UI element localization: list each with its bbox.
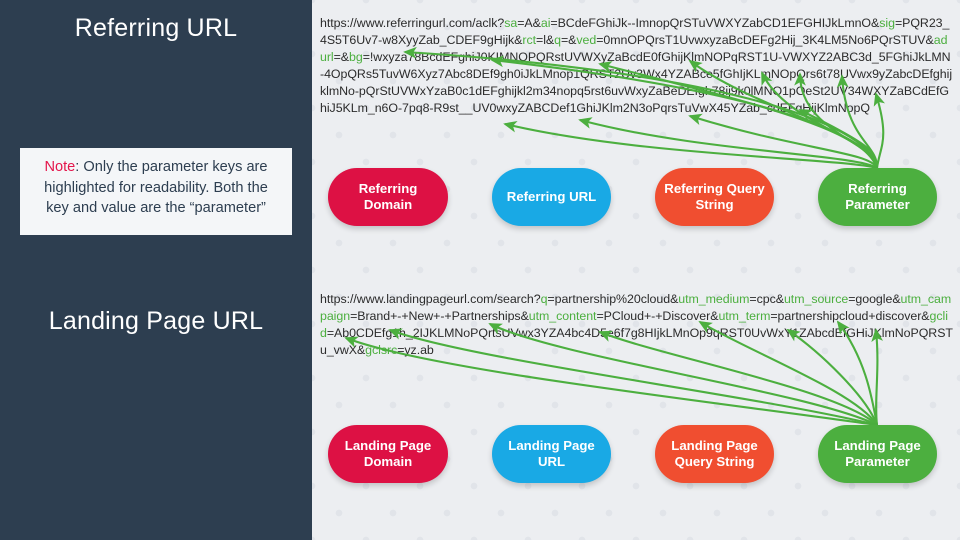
url-parameter-key: q — [554, 33, 561, 47]
pill-label-line: Referring — [359, 181, 418, 197]
note-box: Note: Only the parameter keys are highli… — [20, 148, 292, 235]
url-text-run: =A& — [517, 16, 541, 30]
pill-label-line: Landing Page — [508, 438, 594, 454]
url-text-run: =& — [334, 50, 349, 64]
sidebar: Referring URL Note: Only the parameter k… — [0, 0, 312, 540]
pill-landing-page-url[interactable]: Landing Page URL — [492, 425, 611, 483]
landing-page-url-text: https://www.landingpageurl.com/search?q=… — [320, 291, 954, 359]
url-text-run: =partnership%20cloud& — [547, 292, 678, 306]
pill-label-line: String — [664, 197, 764, 213]
slide-canvas: Referring URL Note: Only the parameter k… — [0, 0, 960, 540]
note-label: Note — [44, 159, 75, 175]
pill-label-line: Referring — [845, 181, 910, 197]
pill-referring-url[interactable]: Referring URL — [492, 168, 611, 226]
pill-label-line: URL — [508, 454, 594, 470]
pill-label-line: Query String — [671, 454, 757, 470]
pill-label-line: Parameter — [834, 454, 920, 470]
url-text-run: =BCdeFGhiJk--ImnopQrSTuVWXYZabCD1EFGHIJk… — [550, 16, 879, 30]
note-text: : Only the parameter keys are highlighte… — [44, 159, 268, 216]
url-text-run: =cpc& — [749, 292, 784, 306]
url-parameter-key: sa — [504, 16, 517, 30]
pill-referring-domain[interactable]: Referring Domain — [328, 168, 448, 226]
url-parameter-key: utm_term — [718, 309, 770, 323]
url-text-run: =l& — [536, 33, 554, 47]
pill-landing-page-query-string[interactable]: Landing Page Query String — [655, 425, 774, 483]
pill-referring-query-string[interactable]: Referring Query String — [655, 168, 774, 226]
url-parameter-key: bg — [349, 50, 363, 64]
pill-label-line: Landing Page — [345, 438, 431, 454]
pill-label-line: Referring URL — [507, 189, 596, 205]
url-parameter-key: ved — [576, 33, 596, 47]
url-parameter-key: utm_content — [529, 309, 597, 323]
pill-landing-page-domain[interactable]: Landing Page Domain — [328, 425, 448, 483]
url-text-run: =& — [561, 33, 576, 47]
url-text-run: =!wxyza78BcdEFghiJ0KIMNOPQRstUVWXyZaBcdE… — [320, 50, 952, 115]
pill-label-line: Domain — [345, 454, 431, 470]
url-parameter-key: utm_medium — [678, 292, 749, 306]
url-parameter-key: utm_source — [784, 292, 848, 306]
referring-url-text: https://www.referringurl.com/aclk?sa=A&a… — [320, 15, 954, 116]
url-parameter-key: sig — [879, 16, 895, 30]
url-text-run: https://www.referringurl.com/aclk? — [320, 16, 504, 30]
pill-label-line: Domain — [359, 197, 418, 213]
url-parameter-key: rct — [522, 33, 536, 47]
url-text-run: =partnershipcloud+discover& — [770, 309, 929, 323]
sidebar-title-referring-url: Referring URL — [0, 14, 312, 43]
sidebar-title-landing-page-url: Landing Page URL — [0, 307, 312, 336]
url-parameter-key: gclsrc — [365, 343, 397, 357]
pill-referring-parameter[interactable]: Referring Parameter — [818, 168, 937, 226]
url-text-run: =PCloud+-+Discover& — [596, 309, 718, 323]
pill-label-line: Referring Query — [664, 181, 764, 197]
url-text-run: =0mnOPQrsT1UvwxyzaBcDEFg2Hij_3K4LM5No6PQ… — [596, 33, 934, 47]
url-text-run: https://www.landingpageurl.com/search? — [320, 292, 541, 306]
url-text-run: =Brand+-+New+-+Partnerships& — [350, 309, 529, 323]
pill-landing-page-parameter[interactable]: Landing Page Parameter — [818, 425, 937, 483]
url-parameter-key: ai — [541, 16, 551, 30]
pill-label-line: Landing Page — [671, 438, 757, 454]
pill-label-line: Landing Page — [834, 438, 920, 454]
url-text-run: =yz.ab — [397, 343, 434, 357]
pill-label-line: Parameter — [845, 197, 910, 213]
url-text-run: =google& — [848, 292, 900, 306]
